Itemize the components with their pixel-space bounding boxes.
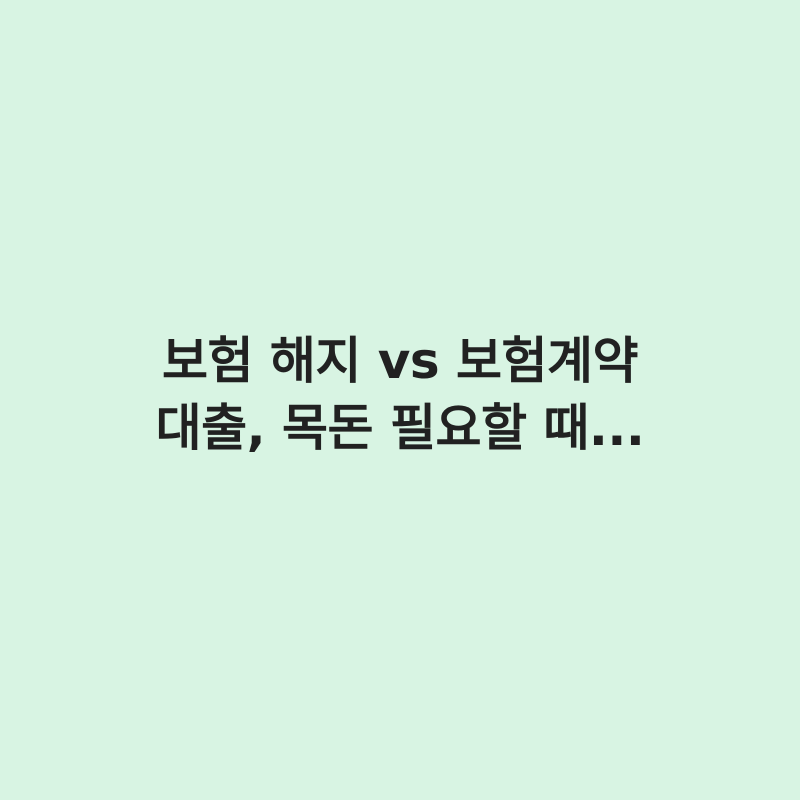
- thumbnail-canvas: 보험 해지 vs 보험계약 대출, 목돈 필요할 때...: [0, 0, 800, 800]
- headline-line-2: 대출, 목돈 필요할 때...: [156, 395, 645, 462]
- headline-block: 보험 해지 vs 보험계약 대출, 목돈 필요할 때...: [120, 328, 680, 472]
- headline-line-1: 보험 해지 vs 보험계약: [162, 328, 638, 395]
